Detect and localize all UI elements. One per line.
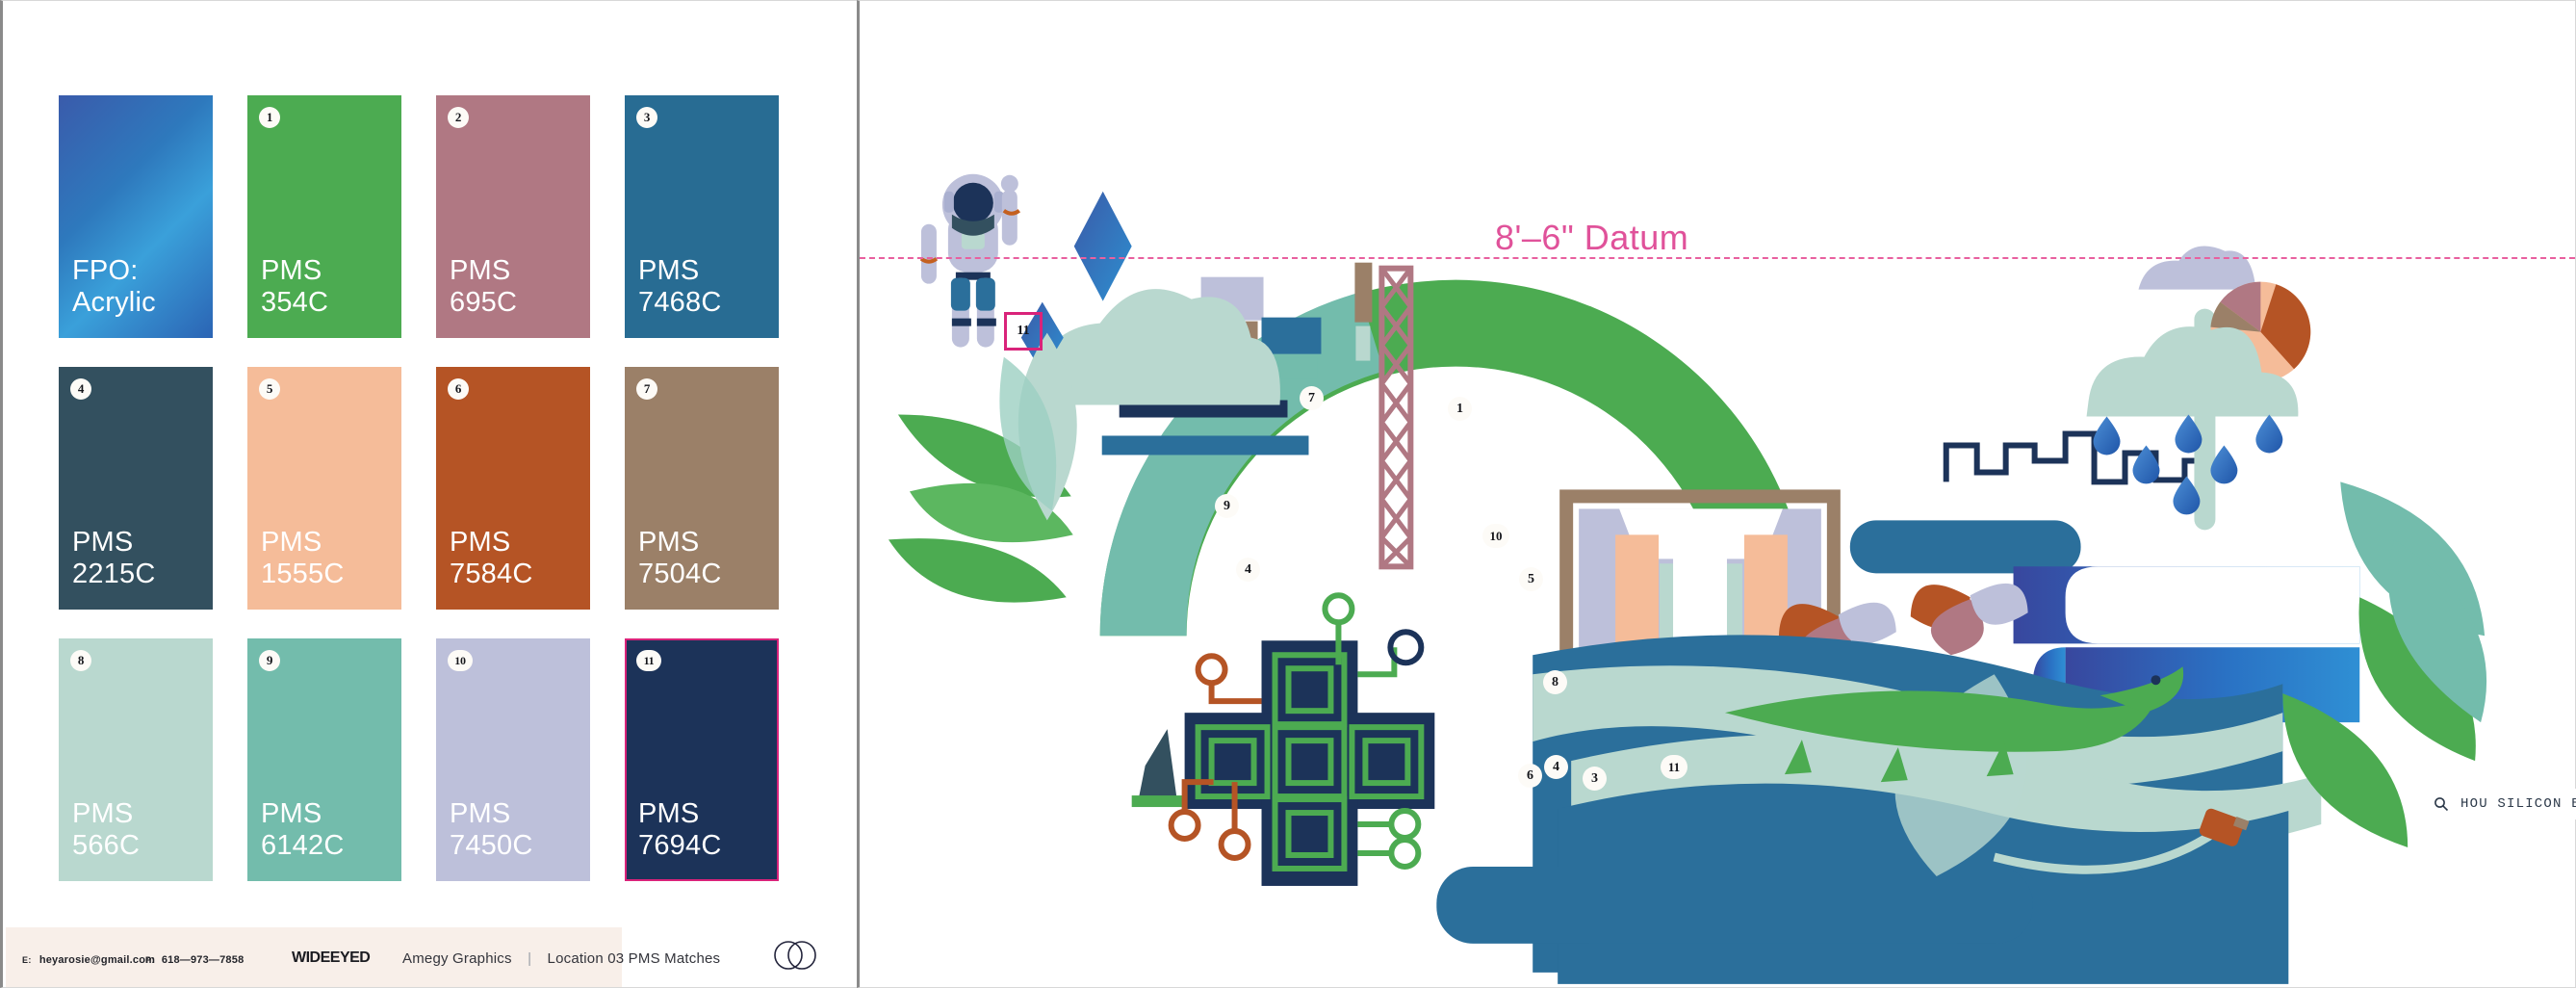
stripe-bars — [1850, 708, 1918, 721]
color-swatch[interactable]: 4PMS2215C — [59, 367, 213, 610]
footer: E: heyarosie@gmail.com P: 618—973—7858 W… — [3, 927, 857, 987]
color-swatch[interactable]: 2PMS695C — [436, 95, 590, 338]
swatch-label: PMS6142C — [261, 798, 344, 862]
contact-phone: P: 618—973—7858 — [145, 954, 244, 966]
callout-marker-7[interactable]: 7 — [1300, 386, 1324, 410]
phone-label: P: — [145, 955, 155, 965]
palm-fronds — [889, 333, 1077, 603]
swatch-number-badge: 10 — [448, 650, 473, 671]
swatch-label: FPO:Acrylic — [72, 255, 156, 319]
swatch-label: PMS7694C — [638, 798, 721, 862]
swatch-row: FPO:Acrylic1PMS354C2PMS695C3PMS7468C — [59, 95, 800, 338]
swatch-number-badge: 6 — [448, 378, 469, 400]
caption-separator: | — [528, 950, 531, 967]
swatch-row: 4PMS2215C5PMS1555C6PMS7584C7PMS7504C — [59, 367, 800, 610]
color-swatch[interactable]: FPO:Acrylic — [59, 95, 213, 338]
callout-marker-4[interactable]: 4 — [1236, 558, 1260, 582]
client-name: Amegy Graphics — [402, 950, 512, 967]
color-swatch[interactable]: 3PMS7468C — [625, 95, 779, 338]
swatch-label: PMS2215C — [72, 527, 155, 590]
color-swatch[interactable]: 5PMS1555C — [247, 367, 401, 610]
datum-label: 8'–6" Datum — [1495, 218, 1688, 258]
swatch-label: PMS7468C — [638, 255, 721, 319]
swatch-label: PMS7504C — [638, 527, 721, 590]
silicon-bayou-illustration — [860, 1, 2575, 986]
callout-marker-11[interactable]: 11 — [1004, 312, 1043, 351]
swatch-number-badge: 2 — [448, 107, 469, 128]
swatch-label: PMS1555C — [261, 527, 344, 590]
swatch-number-badge: 5 — [259, 378, 280, 400]
illustration-panel: 8'–6" Datum HOU SILICON BAYOU 1171941058… — [857, 0, 2576, 988]
swatch-label: PMS695C — [450, 255, 517, 319]
search-bar[interactable]: HOU SILICON BAYOU — [2424, 789, 2576, 819]
swatch-row: 8PMS566C9PMS6142C10PMS7450C11PMS7694C — [59, 638, 800, 881]
search-value: HOU SILICON BAYOU — [2460, 796, 2576, 812]
swatch-number-badge: 4 — [70, 378, 91, 400]
callout-marker-10[interactable]: 10 — [1482, 524, 1509, 548]
callout-marker-label: 11 — [1017, 324, 1029, 339]
email-value: heyarosie@gmail.com — [39, 954, 155, 966]
callout-marker-9[interactable]: 9 — [1215, 494, 1239, 518]
swatch-number-badge: 9 — [259, 650, 280, 671]
callout-marker-1[interactable]: 1 — [1448, 397, 1472, 421]
document-title: Location 03 PMS Matches — [548, 950, 721, 967]
circuit-chip-cluster — [1172, 595, 1435, 886]
studio-brand: WIDEEYED — [292, 949, 370, 967]
swatch-number-badge: 11 — [636, 650, 661, 671]
swatch-number-badge: 3 — [636, 107, 657, 128]
swatch-label: PMS354C — [261, 255, 328, 319]
callout-marker-6[interactable]: 6 — [1518, 764, 1542, 788]
color-swatch[interactable]: 11PMS7694C — [625, 638, 779, 881]
datum-dashed-line — [860, 257, 2575, 259]
wideeyed-oval-logo — [770, 941, 820, 970]
callout-marker-8[interactable]: 8 — [1543, 670, 1567, 694]
callout-marker-3[interactable]: 3 — [1583, 767, 1607, 791]
color-swatch[interactable]: 7PMS7504C — [625, 367, 779, 610]
callout-marker-4[interactable]: 4 — [1544, 755, 1568, 779]
swatch-label: PMS7584C — [450, 527, 532, 590]
color-swatch[interactable]: 9PMS6142C — [247, 638, 401, 881]
color-swatch[interactable]: 1PMS354C — [247, 95, 401, 338]
presentation-board: FPO:Acrylic1PMS354C2PMS695C3PMS7468C4PMS… — [0, 0, 2576, 988]
color-swatch[interactable]: 6PMS7584C — [436, 367, 590, 610]
swatch-label: PMS566C — [72, 798, 140, 862]
city-skyline — [1946, 433, 2212, 486]
callout-marker-11[interactable]: 11 — [1661, 755, 1687, 779]
contact-email: E: heyarosie@gmail.com — [22, 954, 155, 966]
phone-value: 618—973—7858 — [162, 954, 245, 966]
swatch-number-badge: 8 — [70, 650, 91, 671]
swatch-number-badge: 7 — [636, 378, 657, 400]
swatch-number-badge: 1 — [259, 107, 280, 128]
search-icon — [2434, 796, 2449, 812]
document-caption: Amegy Graphics | Location 03 PMS Matches — [402, 950, 720, 967]
swatch-label: PMS7450C — [450, 798, 532, 862]
color-swatch[interactable]: 10PMS7450C — [436, 638, 590, 881]
swatch-grid: FPO:Acrylic1PMS354C2PMS695C3PMS7468C4PMS… — [59, 95, 800, 881]
color-swatch[interactable]: 8PMS566C — [59, 638, 213, 881]
callout-marker-5[interactable]: 5 — [1519, 567, 1543, 591]
email-label: E: — [22, 955, 32, 965]
pms-swatch-panel: FPO:Acrylic1PMS354C2PMS695C3PMS7468C4PMS… — [0, 0, 857, 988]
